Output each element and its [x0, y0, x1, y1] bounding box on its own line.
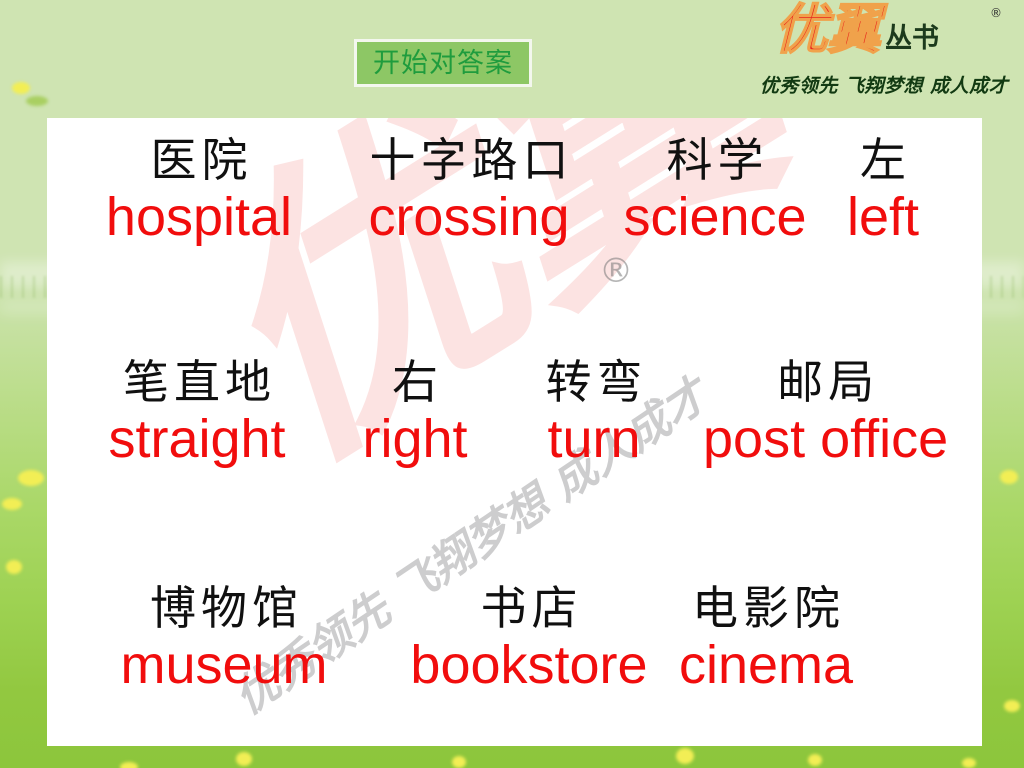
- english-word: turn: [547, 410, 640, 469]
- start-check-answers-label: 开始对答案: [373, 50, 513, 77]
- flower-speck: [1000, 470, 1018, 484]
- vocabulary-pair: 右 right: [331, 354, 499, 469]
- flower-speck: [962, 758, 976, 768]
- flower-speck: [236, 752, 252, 766]
- english-word: right: [362, 410, 467, 469]
- publisher-logo: 优翼 丛书 ® 优秀领先 飞翔梦想 成人成才: [750, 4, 1018, 98]
- chinese-word: 科学: [662, 132, 769, 190]
- flower-speck: [1004, 700, 1020, 712]
- english-word: straight: [108, 410, 285, 469]
- vocabulary-row: 博物馆 museum 书店 bookstore 电影院 cinema: [47, 580, 982, 695]
- chinese-word: 左: [855, 132, 911, 190]
- vocabulary-pair: 转弯 turn: [499, 354, 689, 469]
- flower-speck: [452, 756, 466, 768]
- chinese-word: 转弯: [541, 354, 648, 412]
- english-word: post office: [703, 410, 948, 469]
- vocabulary-pair: 医院 hospital: [65, 132, 333, 247]
- vocabulary-pair: 笔直地 straight: [63, 354, 331, 469]
- english-word: cinema: [679, 636, 853, 695]
- vocabulary-pair: 电影院 cinema: [679, 580, 853, 695]
- slide-canvas: 开始对答案 优翼 丛书 ® 优秀领先 飞翔梦想 成人成才 优翼 优秀领先 飞翔梦…: [0, 0, 1024, 768]
- flower-speck: [120, 762, 138, 768]
- chinese-word: 书店: [476, 580, 583, 638]
- chinese-word: 邮局: [772, 354, 879, 412]
- flower-speck: [808, 754, 822, 766]
- vocabulary-pair: 科学 science: [605, 132, 825, 247]
- chinese-word: 医院: [146, 132, 253, 190]
- start-check-answers-button[interactable]: 开始对答案: [354, 39, 532, 87]
- chinese-word: 电影院: [687, 580, 845, 638]
- flower-speck: [12, 82, 30, 94]
- chinese-word: 笔直地: [118, 354, 276, 412]
- english-word: crossing: [368, 188, 569, 247]
- registered-trademark-icon: ®: [990, 6, 1002, 20]
- vocabulary-row: 笔直地 straight 右 right 转弯 turn 邮局 post off…: [47, 354, 982, 469]
- flower-speck: [18, 470, 44, 486]
- chinese-word: 右: [387, 354, 443, 412]
- english-word: bookstore: [410, 636, 647, 695]
- english-word: science: [623, 188, 806, 247]
- publisher-logo-mark: 优翼 丛书: [774, 4, 939, 55]
- flower-speck: [676, 748, 694, 764]
- publisher-brand-text: 优翼: [774, 4, 880, 55]
- vocabulary-pair: 邮局 post office: [703, 354, 948, 469]
- vocabulary-pair: 书店 bookstore: [379, 580, 679, 695]
- vocabulary-pair: 博物馆 museum: [69, 580, 379, 695]
- vocabulary-pair: 左 left: [847, 132, 919, 247]
- english-word: left: [847, 188, 919, 247]
- flower-speck: [2, 498, 22, 510]
- registered-trademark-icon: ®: [599, 254, 633, 288]
- flower-speck: [26, 96, 48, 106]
- flower-speck: [6, 560, 22, 574]
- publisher-tagline: 优秀领先 飞翔梦想 成人成才: [750, 77, 1018, 96]
- vocabulary-card: 优翼 优秀领先 飞翔梦想 成人成才 ® 医院 hospital 十字路口 cro…: [47, 118, 982, 746]
- chinese-word: 博物馆: [145, 580, 303, 638]
- english-word: museum: [120, 636, 327, 695]
- publisher-series-text: 丛书: [885, 25, 939, 52]
- chinese-word: 十字路口: [365, 132, 574, 190]
- vocabulary-row: 医院 hospital 十字路口 crossing 科学 science 左 l…: [47, 132, 982, 247]
- english-word: hospital: [106, 188, 292, 247]
- vocabulary-pair: 十字路口 crossing: [333, 132, 605, 247]
